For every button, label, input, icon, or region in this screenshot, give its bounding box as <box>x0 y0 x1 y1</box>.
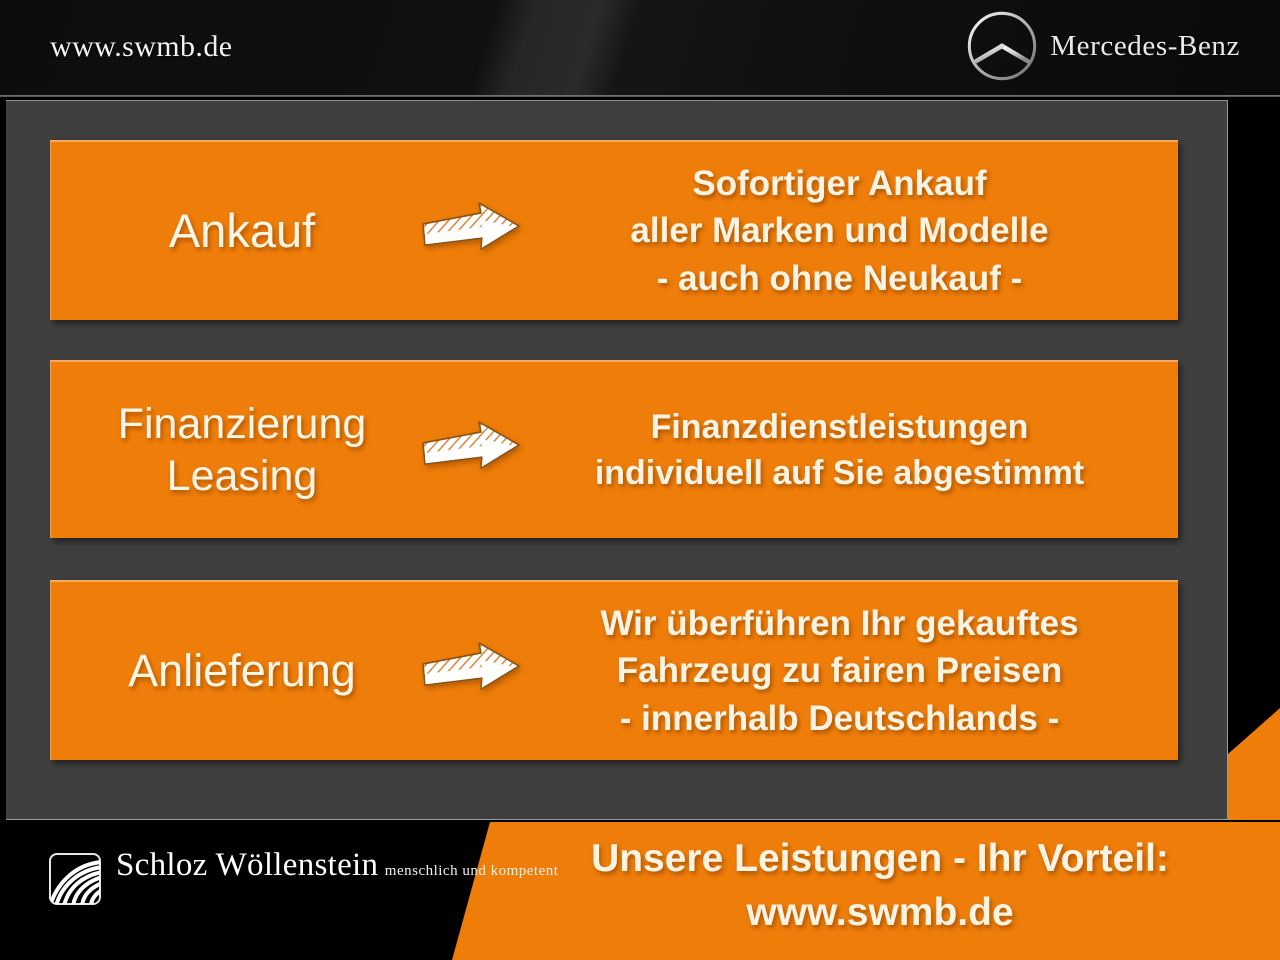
schloz-woellenstein-text: Schloz Wöllenstein menschlich und kompet… <box>116 848 558 883</box>
service-description: Sofortiger Ankauf aller Marken und Model… <box>531 160 1178 303</box>
service-description-line: Wir überführen Ihr gekauftes <box>531 600 1148 648</box>
header-bar: www.swmb.de <box>0 0 1280 97</box>
service-description-line: - auch ohne Neukauf - <box>531 255 1148 303</box>
service-description-line: Fahrzeug zu fairen Preisen <box>531 647 1148 695</box>
service-description-line: aller Marken und Modelle <box>531 207 1148 255</box>
header-website-url: www.swmb.de <box>50 30 232 64</box>
service-description-line: Finanzdienstleistungen <box>531 404 1148 450</box>
footer-headline-line: Unsere Leistungen - Ihr Vorteil: <box>500 832 1260 886</box>
mercedes-benz-wordmark: Mercedes-Benz <box>1050 30 1240 63</box>
schloz-woellenstein-logo[interactable]: Schloz Wöllenstein menschlich und kompet… <box>48 848 558 906</box>
service-title-line: Finanzierung <box>118 400 367 448</box>
footer-headline: Unsere Leistungen - Ihr Vorteil: www.swm… <box>500 832 1260 940</box>
service-description-line: - innerhalb Deutschlands - <box>531 695 1148 743</box>
sketch-arrow-right-icon <box>411 419 531 481</box>
service-band-ankauf[interactable]: Ankauf Sofortiger Ankauf aller Marken un… <box>50 140 1178 320</box>
header-divider <box>0 95 1280 97</box>
service-description: Wir überführen Ihr gekauftes Fahrzeug zu… <box>531 600 1178 743</box>
sketch-arrow-right-icon <box>411 200 531 262</box>
slide-canvas: www.swmb.de <box>0 0 1280 960</box>
schloz-woellenstein-field-mark-icon <box>48 848 102 906</box>
service-description-line: Sofortiger Ankauf <box>531 160 1148 208</box>
service-title: Ankauf <box>51 202 411 259</box>
service-band-finanzierung-leasing[interactable]: Finanzierung Leasing Finanzdienstleistun… <box>50 360 1178 538</box>
service-description-line: individuell auf Sie abgestimmt <box>531 450 1148 496</box>
service-title: Anlieferung <box>51 644 411 699</box>
service-description: Finanzdienstleistungen individuell auf S… <box>531 404 1178 496</box>
footer-website-url[interactable]: www.swmb.de <box>500 886 1260 940</box>
service-band-anlieferung[interactable]: Anlieferung Wir überführen Ihr gekauftes… <box>50 580 1178 760</box>
service-title-line: Leasing <box>167 452 318 500</box>
service-title: Finanzierung Leasing <box>51 398 411 503</box>
mercedes-star-icon <box>964 8 1040 84</box>
dealer-name: Schloz Wöllenstein <box>116 847 378 883</box>
mercedes-benz-logo: Mercedes-Benz <box>964 8 1240 84</box>
sketch-arrow-right-icon <box>411 640 531 702</box>
